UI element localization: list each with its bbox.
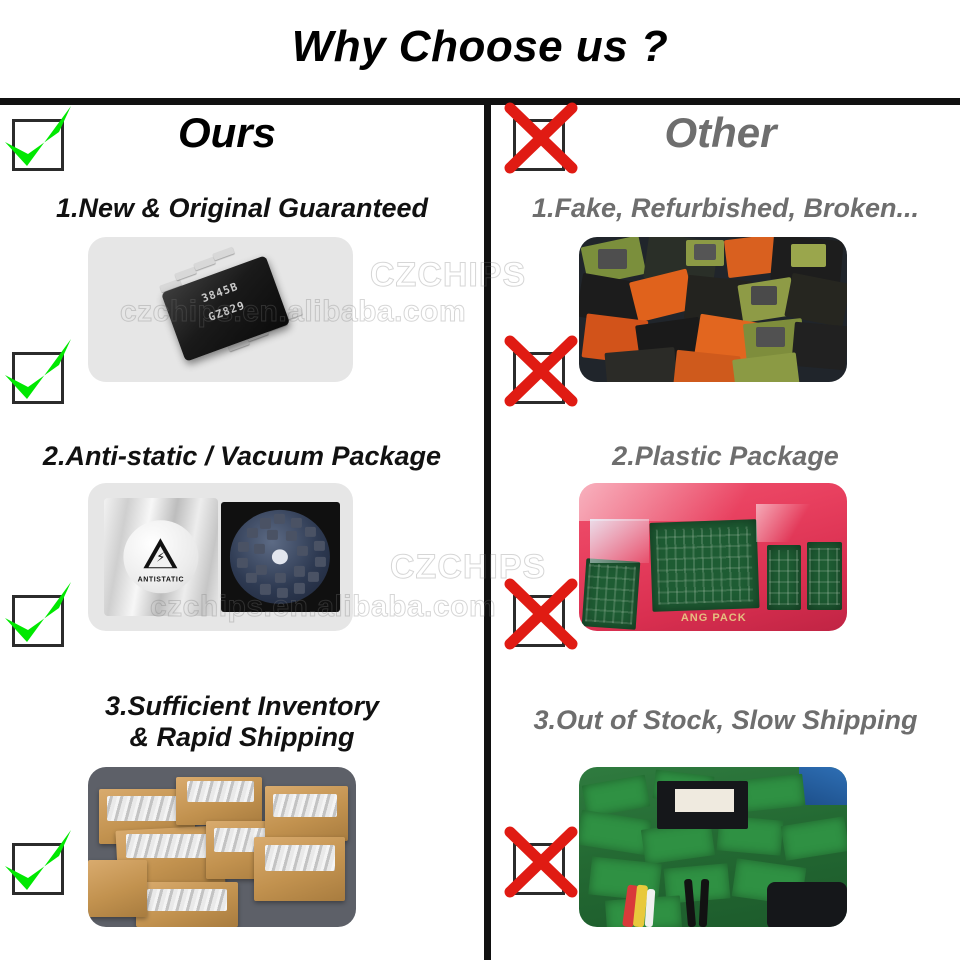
chip-illustration: 3845B GZ829 xyxy=(88,237,353,382)
row-heading-ours-1: 1.New & Original Guaranteed xyxy=(0,185,484,224)
plastic-package-illustration: ANG PACK xyxy=(579,483,847,631)
check-mark-box-row2 xyxy=(12,595,64,647)
antistatic-label: ANTISTATIC xyxy=(123,576,198,583)
photo-cartons-of-stock xyxy=(88,767,356,927)
scrap-chips-illustration xyxy=(579,237,847,382)
cross-mark-icon xyxy=(502,578,578,654)
reel-box xyxy=(221,502,340,612)
photo-scrap-cpu-chips xyxy=(579,237,847,382)
column-ours: Ours 1.New & Original Guaranteed xyxy=(0,105,484,960)
row-heading-other-3: 3.Out of Stock, Slow Shipping xyxy=(491,683,960,736)
reel-hub xyxy=(272,549,288,564)
cross-mark-box-row1 xyxy=(513,352,565,404)
row-heading-other-1: 1.Fake, Refurbished, Broken... xyxy=(491,185,960,224)
row-ours-3: 3.Sufficient Inventory & Rapid Shipping xyxy=(0,683,484,953)
page-title: Why Choose us ? xyxy=(0,22,960,72)
column-header-label-other: Other xyxy=(491,109,960,157)
row-heading-other-2: 2.Plastic Package xyxy=(491,435,960,472)
check-mark-box-row3 xyxy=(12,843,64,895)
column-header-label-ours: Ours xyxy=(0,109,484,157)
component-reel xyxy=(230,510,330,604)
lightning-bolt-icon: ⚡ xyxy=(156,550,165,566)
antistatic-bag: ⚡ ANTISTATIC xyxy=(104,498,218,616)
check-mark-icon xyxy=(1,335,77,411)
cartons-illustration xyxy=(88,767,356,927)
row-heading-ours-3-line2: & Rapid Shipping xyxy=(0,722,484,753)
row-other-2: 2.Plastic Package ANG PACK xyxy=(491,435,960,683)
column-header-other: Other xyxy=(491,105,960,185)
row-heading-ours-3-line1: 3.Sufficient Inventory xyxy=(0,683,484,722)
scrap-boards-illustration xyxy=(579,767,847,927)
photo-green-scrap-boards xyxy=(579,767,847,927)
column-other: Other 1.Fake, Refurbished, Broken... xyxy=(491,105,960,960)
check-mark-icon xyxy=(1,578,77,654)
row-ours-1: 1.New & Original Guaranteed xyxy=(0,185,484,435)
row-ours-2: 2.Anti-static / Vacuum Package ⚡ ANTISTA… xyxy=(0,435,484,683)
check-mark-icon xyxy=(1,826,77,902)
cross-mark-box-row2 xyxy=(513,595,565,647)
column-divider-vertical xyxy=(484,105,491,960)
photo-pink-plastic-bag: ANG PACK xyxy=(579,483,847,631)
cross-mark-box-row3 xyxy=(513,843,565,895)
row-other-3: 3.Out of Stock, Slow Shipping xyxy=(491,683,960,953)
cross-mark-icon xyxy=(502,826,578,902)
photo-antistatic-vacuum-package: ⚡ ANTISTATIC xyxy=(88,483,353,631)
photo-new-original-chip: 3845B GZ829 xyxy=(88,237,353,382)
comparison-infographic: Why Choose us ? Ours 1.New & Original Gu… xyxy=(0,0,960,960)
bag-disc: ⚡ ANTISTATIC xyxy=(123,520,198,593)
row-heading-ours-2: 2.Anti-static / Vacuum Package xyxy=(0,435,484,472)
cross-mark-icon xyxy=(502,335,578,411)
pack-watermark-text: ANG PACK xyxy=(681,612,747,624)
header-divider-horizontal xyxy=(0,98,960,105)
check-mark-box-row1 xyxy=(12,352,64,404)
column-header-ours: Ours xyxy=(0,105,484,185)
row-other-1: 1.Fake, Refurbished, Broken... xyxy=(491,185,960,435)
